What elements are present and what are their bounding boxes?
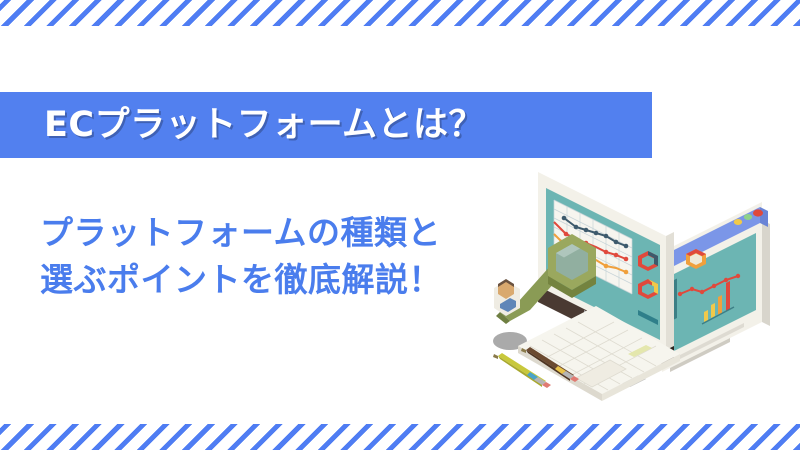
browser-dot-green	[744, 214, 752, 220]
isometric-data-analysis-illustration	[480, 160, 800, 425]
poster-canvas: ECプラットフォームとは？ プラットフォームの種類と 選ぶポイントを徹底解説！	[0, 0, 800, 450]
subtitle-line-2: 選ぶポイントを徹底解説！	[40, 257, 442, 304]
subtitle-line-1: プラットフォームの種類と	[40, 210, 442, 257]
subtitle-block: プラットフォームの種類と 選ぶポイントを徹底解説！	[40, 210, 442, 304]
browser-dot-red	[753, 209, 763, 216]
browser-dot-yellow	[734, 219, 742, 225]
diagonal-stripe-band-top	[0, 0, 800, 26]
title-banner: ECプラットフォームとは？	[0, 92, 652, 158]
page-title: ECプラットフォームとは？	[44, 108, 484, 143]
browser-window-illustration	[662, 202, 770, 372]
diagonal-stripe-band-bottom	[0, 424, 800, 450]
